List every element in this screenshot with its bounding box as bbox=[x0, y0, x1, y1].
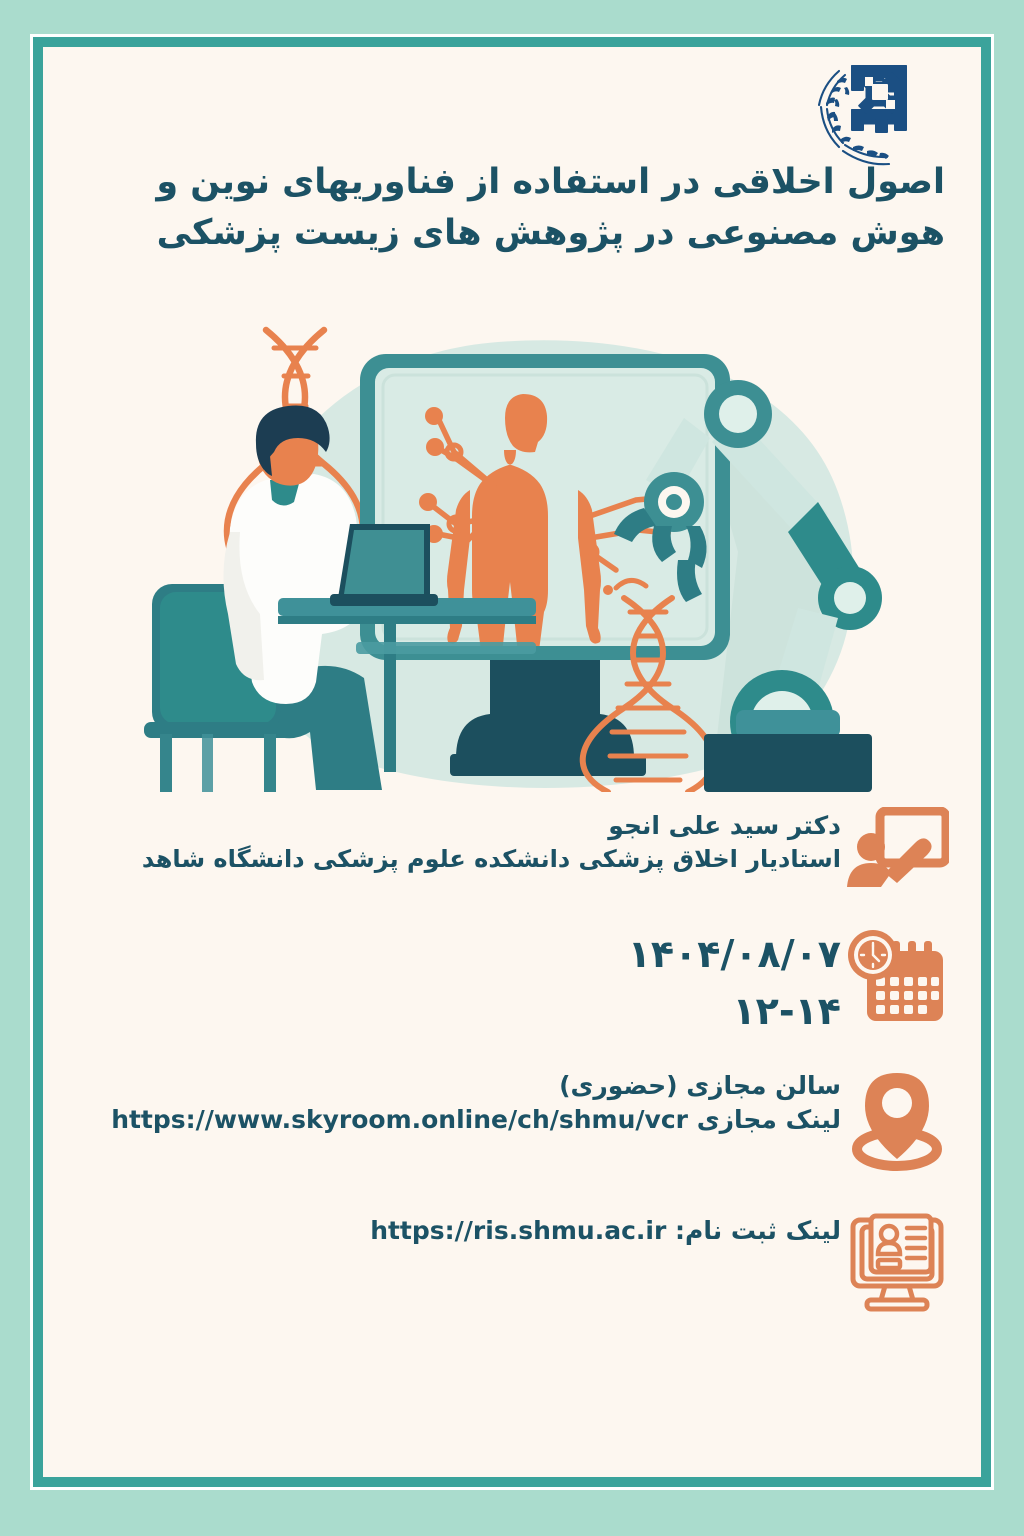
title-line-1: اصول اخلاقی در استفاده از فناوریهای نوین… bbox=[115, 157, 945, 208]
speaker-name: دکتر سید علی انجو bbox=[77, 809, 841, 843]
shahroud-university-logo bbox=[793, 53, 953, 173]
title-line-2: هوش مصنوعی در پژوهش های زیست پزشکی bbox=[115, 208, 945, 259]
registration-line: لینک ثبت نام: https://ris.shmu.ac.ir bbox=[67, 1214, 841, 1248]
calendar-clock-icon bbox=[841, 927, 949, 1035]
virtual-link-url[interactable]: https://www.skyroom.online/ch/shmu/vcr bbox=[111, 1103, 688, 1137]
registration-text-block: لینک ثبت نام: https://ris.shmu.ac.ir bbox=[63, 1212, 841, 1248]
schedule-info-row: ۱۴۰۴/۰۸/۰۷ ۱۲-۱۴ bbox=[73, 927, 953, 1037]
registration-url[interactable]: https://ris.shmu.ac.ir bbox=[370, 1214, 666, 1248]
presenter-board-icon bbox=[841, 807, 949, 893]
place-info-row: سالن مجازی (حضوری) لینک مجازی https://ww… bbox=[63, 1067, 953, 1175]
poster-root: اصول اخلاقی در استفاده از فناوریهای نوین… bbox=[0, 0, 1024, 1536]
event-date: ۱۴۰۴/۰۸/۰۷ bbox=[77, 929, 841, 980]
registration-info-row: لینک ثبت نام: https://ris.shmu.ac.ir bbox=[63, 1212, 953, 1320]
virtual-link-line: لینک مجازی https://www.skyroom.online/ch… bbox=[67, 1103, 841, 1137]
speaker-info-row: دکتر سید علی انجو استادیار اخلاق پزشکی د… bbox=[73, 807, 953, 893]
registration-label: لینک ثبت نام: bbox=[675, 1216, 841, 1245]
event-time: ۱۲-۱۴ bbox=[77, 986, 841, 1037]
venue-name: سالن مجازی (حضوری) bbox=[67, 1069, 841, 1103]
online-registration-form-icon bbox=[841, 1212, 949, 1320]
ai-biomedical-research-illustration bbox=[138, 302, 928, 792]
virtual-link-label: لینک مجازی bbox=[697, 1105, 841, 1134]
speaker-affiliation: استادیار اخلاق پزشکی دانشکده علوم پزشکی … bbox=[77, 843, 841, 875]
speaker-text-block: دکتر سید علی انجو استادیار اخلاق پزشکی د… bbox=[73, 807, 841, 875]
page-title: اصول اخلاقی در استفاده از فناوریهای نوین… bbox=[115, 157, 945, 259]
poster-canvas: اصول اخلاقی در استفاده از فناوریهای نوین… bbox=[43, 47, 981, 1477]
location-pin-icon bbox=[841, 1067, 949, 1175]
schedule-text-block: ۱۴۰۴/۰۸/۰۷ ۱۲-۱۴ bbox=[73, 927, 841, 1037]
place-text-block: سالن مجازی (حضوری) لینک مجازی https://ww… bbox=[63, 1067, 841, 1136]
